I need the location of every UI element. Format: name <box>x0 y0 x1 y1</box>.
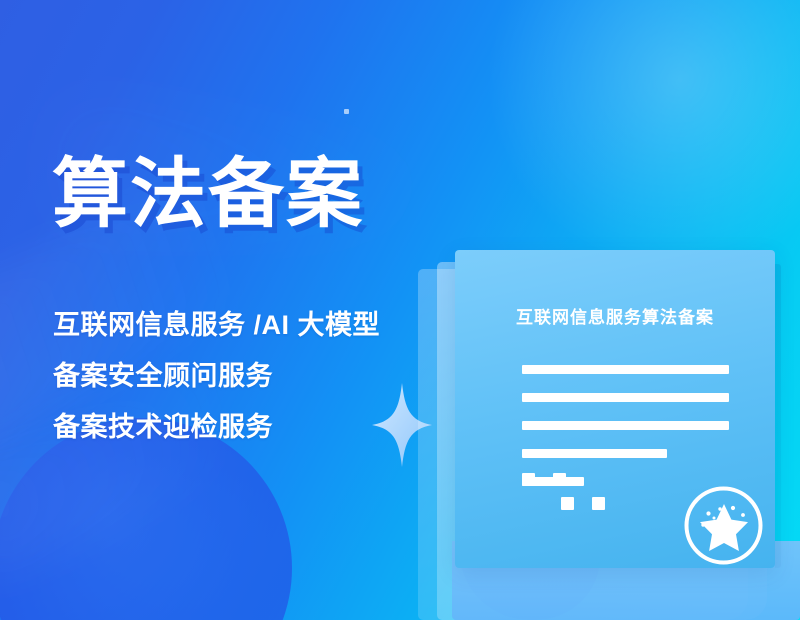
text-line <box>522 421 729 430</box>
subtitle-line-3: 备案技术迎检服务 <box>53 402 453 453</box>
block-item <box>592 497 605 510</box>
star-seal-icon <box>683 485 764 566</box>
subtitle-line-2: 备案安全顾问服务 <box>53 351 453 402</box>
card-edge-shadow <box>775 264 781 568</box>
block-item <box>522 473 535 486</box>
small-dot-icon <box>344 109 349 114</box>
top-right-glow <box>470 0 800 270</box>
subtitle-list: 互联网信息服务 /AI 大模型 备案安全顾问服务 备案技术迎检服务 <box>53 300 453 453</box>
page-title: 算法备案 <box>52 152 364 238</box>
promo-banner: 算法备案 互联网信息服务 /AI 大模型 备案安全顾问服务 备案技术迎检服务 互… <box>0 0 800 620</box>
document-card-stack: 互联网信息服务算法备案 <box>418 250 800 620</box>
text-line <box>522 365 729 374</box>
text-line <box>522 449 667 458</box>
block-item <box>553 473 566 486</box>
certificate-card: 互联网信息服务算法备案 <box>455 250 775 568</box>
subtitle-line-1: 互联网信息服务 /AI 大模型 <box>53 300 453 351</box>
text-line <box>522 393 729 402</box>
block-item <box>561 497 574 510</box>
certificate-title: 互联网信息服务算法备案 <box>455 303 775 328</box>
